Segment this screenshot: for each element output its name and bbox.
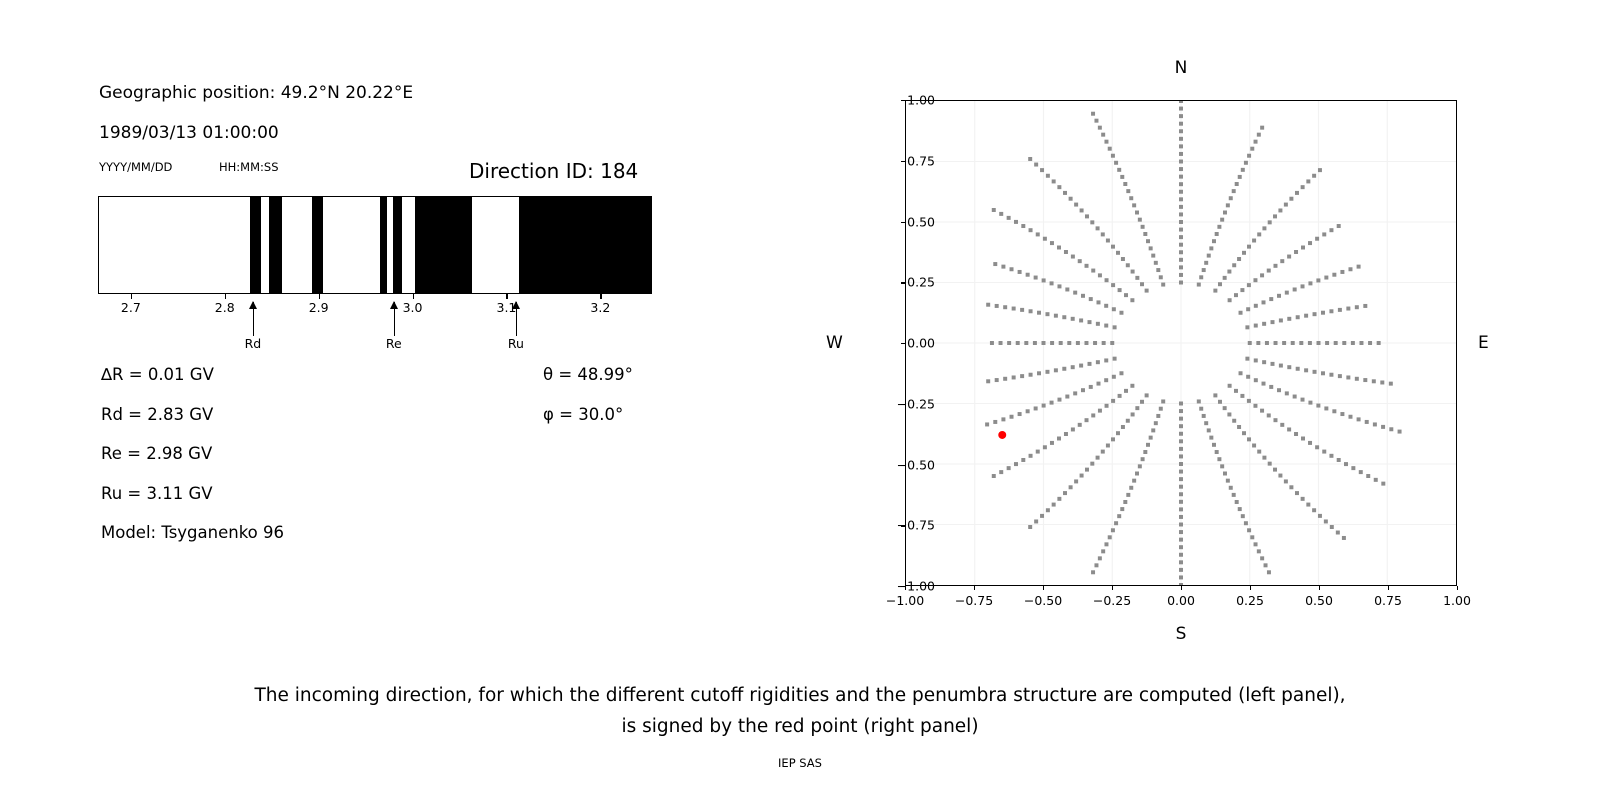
x-axis-tick-label: −0.50 — [1024, 593, 1062, 608]
axis-tick-label: 3.2 — [590, 300, 610, 315]
gridlines — [906, 101, 1456, 585]
right-panel: N S W E −1.00−0.75−0.50−0.250.000.250.50… — [800, 0, 1600, 660]
value-row-3: Ru = 3.11 GV — [101, 474, 284, 514]
annotation-label: Re — [386, 336, 402, 351]
axis-tick-label: 2.9 — [309, 300, 329, 315]
direction-map-svg — [906, 101, 1456, 585]
axis-label-north: N — [1175, 58, 1188, 78]
forbidden-band — [250, 197, 261, 293]
direction-id-label: Direction ID: 184 — [469, 159, 638, 183]
y-axis-tick-label: 0.00 — [907, 336, 935, 351]
angle-values-list: θ = 48.99°φ = 30.0° — [543, 355, 633, 434]
axis-tick-label: 3.0 — [403, 300, 423, 315]
direction-map-plot — [905, 100, 1457, 586]
x-axis-tick — [974, 586, 975, 590]
x-axis-tick-label: 0.75 — [1374, 593, 1402, 608]
y-axis-tick — [901, 161, 905, 162]
axis-tick — [319, 294, 320, 299]
y-axis-tick — [901, 100, 905, 101]
axis-tick — [225, 294, 226, 299]
axis-tick — [506, 294, 507, 299]
value-row-4: Model: Tsyganenko 96 — [101, 513, 284, 553]
left-panel: Geographic position: 49.2°N 20.22°E 1989… — [0, 0, 800, 660]
footer-caption: The incoming direction, for which the di… — [0, 680, 1600, 742]
axis-tick — [131, 294, 132, 299]
x-axis-tick-label: 0.50 — [1305, 593, 1333, 608]
x-axis-tick — [1319, 586, 1320, 590]
axis-label-west: W — [826, 333, 843, 353]
x-axis-tick-label: 0.25 — [1236, 593, 1264, 608]
y-axis-tick — [901, 282, 905, 283]
axis-label-east: E — [1478, 333, 1489, 353]
x-axis-tick — [1388, 586, 1389, 590]
axis-tick-label: 2.8 — [215, 300, 235, 315]
penumbra-bar — [98, 196, 652, 294]
value-row-1: Rd = 2.83 GV — [101, 395, 284, 435]
arrow-up-icon — [390, 301, 398, 309]
x-axis-tick — [1250, 586, 1251, 590]
footer-line-1: is signed by the red point (right panel) — [0, 711, 1600, 742]
y-axis-tick — [901, 222, 905, 223]
forbidden-band — [380, 197, 388, 293]
value-row-0: ∆R = 0.01 GV — [101, 355, 284, 395]
y-axis-tick-label: 0.25 — [907, 275, 935, 290]
y-axis-tick-label: 1.00 — [907, 93, 935, 108]
geographic-position-text: Geographic position: 49.2°N 20.22°E — [99, 83, 413, 103]
forbidden-band — [269, 197, 282, 293]
y-axis-tick-label: 0.50 — [907, 214, 935, 229]
date-format-hint: YYYY/MM/DD — [99, 160, 172, 174]
annotation-label: Rd — [245, 336, 262, 351]
forbidden-band — [393, 197, 402, 293]
angle-row-1: φ = 30.0° — [543, 395, 633, 435]
y-axis-tick-label: −1.00 — [897, 579, 935, 594]
x-axis-tick — [1043, 586, 1044, 590]
credit-text: IEP SAS — [0, 756, 1600, 770]
x-axis-tick — [905, 586, 906, 590]
x-axis-tick — [1181, 586, 1182, 590]
forbidden-band — [415, 197, 471, 293]
value-row-2: Re = 2.98 GV — [101, 434, 284, 474]
angle-row-0: θ = 48.99° — [543, 355, 633, 395]
selected-direction-point — [998, 431, 1006, 439]
forbidden-band — [519, 197, 652, 293]
x-axis-tick-label: −0.25 — [1093, 593, 1131, 608]
y-axis-tick-label: −0.50 — [897, 457, 935, 472]
annotation-label: Ru — [508, 336, 524, 351]
axis-label-south: S — [1176, 624, 1187, 644]
axis-tick — [600, 294, 601, 299]
y-axis-tick-label: −0.75 — [897, 518, 935, 533]
x-axis-tick — [1457, 586, 1458, 590]
footer-line-0: The incoming direction, for which the di… — [0, 680, 1600, 711]
x-axis-tick-label: −0.75 — [955, 593, 993, 608]
x-axis-tick-label: −1.00 — [886, 593, 924, 608]
datetime-text: 1989/03/13 01:00:00 — [99, 123, 279, 143]
y-axis-tick-label: −0.25 — [897, 396, 935, 411]
x-axis-tick — [1112, 586, 1113, 590]
cutoff-values-list: ∆R = 0.01 GVRd = 2.83 GVRe = 2.98 GVRu =… — [101, 355, 284, 553]
penumbra-axis: 2.72.82.93.03.13.2RdReRu — [98, 294, 652, 354]
x-axis-tick-label: 1.00 — [1443, 593, 1471, 608]
arrow-up-icon — [249, 301, 257, 309]
axis-tick-label: 2.7 — [121, 300, 141, 315]
time-format-hint: HH:MM:SS — [219, 160, 279, 174]
forbidden-band — [312, 197, 323, 293]
x-axis-tick-label: 0.00 — [1167, 593, 1195, 608]
y-axis-tick — [901, 343, 905, 344]
y-axis-tick-label: 0.75 — [907, 153, 935, 168]
axis-tick — [413, 294, 414, 299]
arrow-up-icon — [512, 301, 520, 309]
penumbra-chart — [98, 196, 652, 294]
